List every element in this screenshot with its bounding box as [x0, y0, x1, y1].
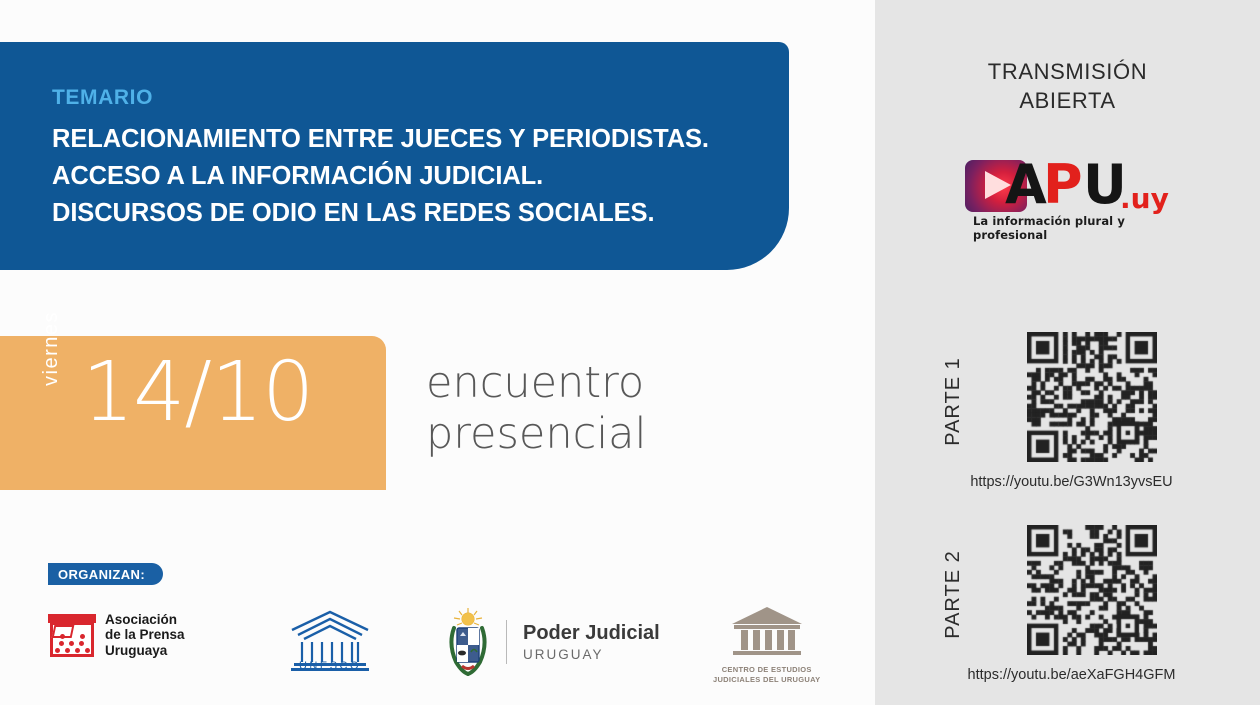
organizers-badge: ORGANIZAN:	[48, 563, 163, 585]
event-type: encuentro presencial	[426, 358, 646, 459]
left-content-panel: TEMARIO RELACIONAMIENTO ENTRE JUECES Y P…	[0, 0, 875, 705]
organizers-badge-label: ORGANIZAN:	[58, 567, 145, 582]
event-date: 14/10	[82, 352, 313, 434]
qr-label-parte-1: PARTE 1	[942, 357, 965, 446]
broadcast-title-line-1: TRANSMISIÓN	[875, 58, 1260, 87]
asociacion-prensa-name: Asociación de la Prensa Uruguaya	[105, 612, 185, 657]
prensa-box-icon	[48, 612, 96, 658]
broadcast-sidebar: TRANSMISIÓN ABIERTA A P U .uy La informa…	[875, 0, 1260, 705]
qr-code-parte-1[interactable]	[1027, 332, 1157, 462]
ceju-line-2: JUDICIALES DEL URUGUAY	[713, 675, 820, 685]
qr-url-parte-2[interactable]: https://youtu.be/aeXaFGH4GFM	[875, 667, 1260, 683]
topic-line-2: ACCESO A LA INFORMACIÓN JUDICIAL.	[52, 162, 543, 191]
topic-banner: TEMARIO RELACIONAMIENTO ENTRE JUECES Y P…	[0, 42, 789, 270]
event-type-line-2: presencial	[426, 409, 646, 460]
ceju-temple-icon	[728, 604, 806, 660]
ceju-wordmark: CENTRO DE ESTUDIOS JUDICIALES DEL URUGUA…	[713, 665, 820, 685]
logo-apu-uy: A P U .uy La información plural y profes…	[965, 158, 1175, 230]
apuy-tagline: La información plural y profesional	[973, 214, 1175, 242]
apu-name-line-2: de la Prensa	[105, 627, 185, 642]
qr-row: PARTE 2	[875, 525, 1260, 657]
poder-judicial-title: Poder Judicial	[523, 622, 660, 645]
poder-judicial-subtitle: URUGUAY	[523, 647, 660, 662]
topic-line-3: DISCURSOS DE ODIO EN LAS REDES SOCIALES.	[52, 199, 654, 228]
event-weekday: viernes	[40, 311, 63, 386]
qr-label-parte-2: PARTE 2	[942, 550, 965, 639]
unesco-wordmark: UNESCO	[288, 660, 372, 672]
apuy-letter-p: P	[1043, 158, 1083, 212]
apuy-letter-a: A	[1005, 158, 1047, 212]
apu-name-line-1: Asociación	[105, 612, 185, 627]
qr-url-parte-1[interactable]: https://youtu.be/G3Wn13yvsEU	[875, 474, 1260, 490]
logo-centro-estudios-judiciales: CENTRO DE ESTUDIOS JUDICIALES DEL URUGUA…	[713, 604, 820, 685]
event-type-line-1: encuentro	[426, 358, 646, 409]
qr-block-parte-2: PARTE 2 https://youtu.be/aeXaFGH4GFM	[875, 525, 1260, 683]
unesco-temple-icon: UNESCO	[288, 608, 372, 676]
event-poster: TEMARIO RELACIONAMIENTO ENTRE JUECES Y P…	[0, 0, 1260, 705]
apuy-suffix: .uy	[1120, 182, 1169, 215]
qr-row: PARTE 1	[875, 332, 1260, 464]
topic-line-1: RELACIONAMIENTO ENTRE JUECES Y PERIODIST…	[52, 125, 709, 154]
broadcast-title-line-2: ABIERTA	[875, 87, 1260, 116]
apu-name-line-3: Uruguaya	[105, 643, 185, 658]
organizer-logo-row: Asociación de la Prensa Uruguaya	[48, 600, 828, 692]
logo-unesco: UNESCO	[288, 608, 372, 676]
ceju-line-1: CENTRO DE ESTUDIOS	[713, 665, 820, 675]
logo-poder-judicial: Poder Judicial URUGUAY	[440, 606, 660, 678]
broadcast-title: TRANSMISIÓN ABIERTA	[875, 58, 1260, 115]
qr-block-parte-1: PARTE 1 https://youtu.be/G3Wn13yvsEU	[875, 332, 1260, 490]
logo-asociacion-prensa-uruguaya: Asociación de la Prensa Uruguaya	[48, 612, 185, 658]
logo-divider	[506, 620, 507, 664]
event-date-block: viernes 14/10	[0, 336, 386, 490]
qr-code-parte-2[interactable]	[1027, 525, 1157, 655]
poder-judicial-text: Poder Judicial URUGUAY	[523, 622, 660, 662]
uruguay-coat-of-arms-icon	[440, 606, 496, 678]
topic-label: TEMARIO	[52, 86, 153, 110]
